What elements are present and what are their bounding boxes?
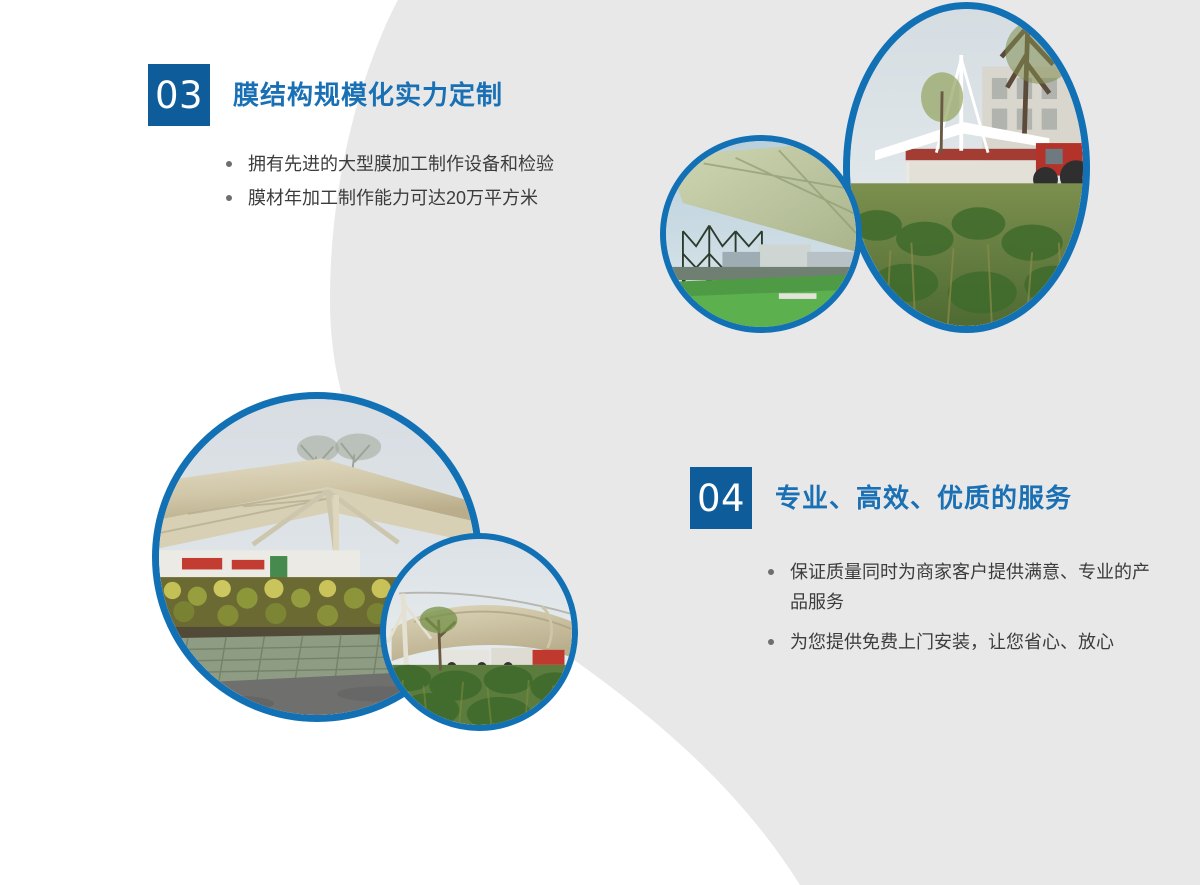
- feature-block-04: 04 专业、高效、优质的服务 保证质量同时为商家客户提供满意、专业的产品服务 为…: [690, 467, 1160, 667]
- feature-title-03: 膜结构规模化实力定制: [233, 81, 503, 110]
- bullet-text: 膜材年加工制作能力可达20万平方米: [248, 188, 538, 208]
- bullet-dot-icon: [226, 161, 232, 167]
- feature-bullet-list-03: 拥有先进的大型膜加工制作设备和检验 膜材年加工制作能力可达20万平方米: [224, 149, 618, 213]
- list-item: 为您提供免费上门安装，让您省心、放心: [766, 627, 1160, 657]
- bullet-text: 保证质量同时为商家客户提供满意、专业的产品服务: [790, 562, 1150, 612]
- feature-number-badge-04: 04: [690, 467, 752, 529]
- photo-circle-curved-membrane-carport: [380, 533, 578, 731]
- feature-bullet-list-04: 保证质量同时为商家客户提供满意、专业的产品服务 为您提供免费上门安装，让您省心、…: [766, 557, 1160, 657]
- photo-inner: [386, 539, 572, 725]
- bullet-dot-icon: [768, 639, 774, 645]
- photo-circle-membrane-canopy-with-tractor: [843, 2, 1090, 333]
- list-item: 膜材年加工制作能力可达20万平方米: [224, 183, 618, 213]
- feature-title-04: 专业、高效、优质的服务: [775, 484, 1072, 513]
- feature-header-03: 03 膜结构规模化实力定制: [148, 64, 618, 126]
- list-item: 保证质量同时为商家客户提供满意、专业的产品服务: [766, 557, 1160, 617]
- bullet-dot-icon: [768, 569, 774, 575]
- bullet-text: 拥有先进的大型膜加工制作设备和检验: [248, 154, 554, 174]
- photo-inner: [850, 9, 1083, 326]
- slide-canvas: 03 膜结构规模化实力定制 拥有先进的大型膜加工制作设备和检验 膜材年加工制作能…: [0, 0, 1200, 885]
- photo-circle-canopy-over-sports-field: [660, 135, 862, 333]
- photo-inner: [666, 141, 856, 327]
- bullet-dot-icon: [226, 195, 232, 201]
- list-item: 拥有先进的大型膜加工制作设备和检验: [224, 149, 618, 179]
- bullet-text: 为您提供免费上门安装，让您省心、放心: [790, 632, 1114, 652]
- feature-number-badge-03: 03: [148, 64, 210, 126]
- feature-block-03: 03 膜结构规模化实力定制 拥有先进的大型膜加工制作设备和检验 膜材年加工制作能…: [148, 64, 618, 217]
- feature-header-04: 04 专业、高效、优质的服务: [690, 467, 1160, 529]
